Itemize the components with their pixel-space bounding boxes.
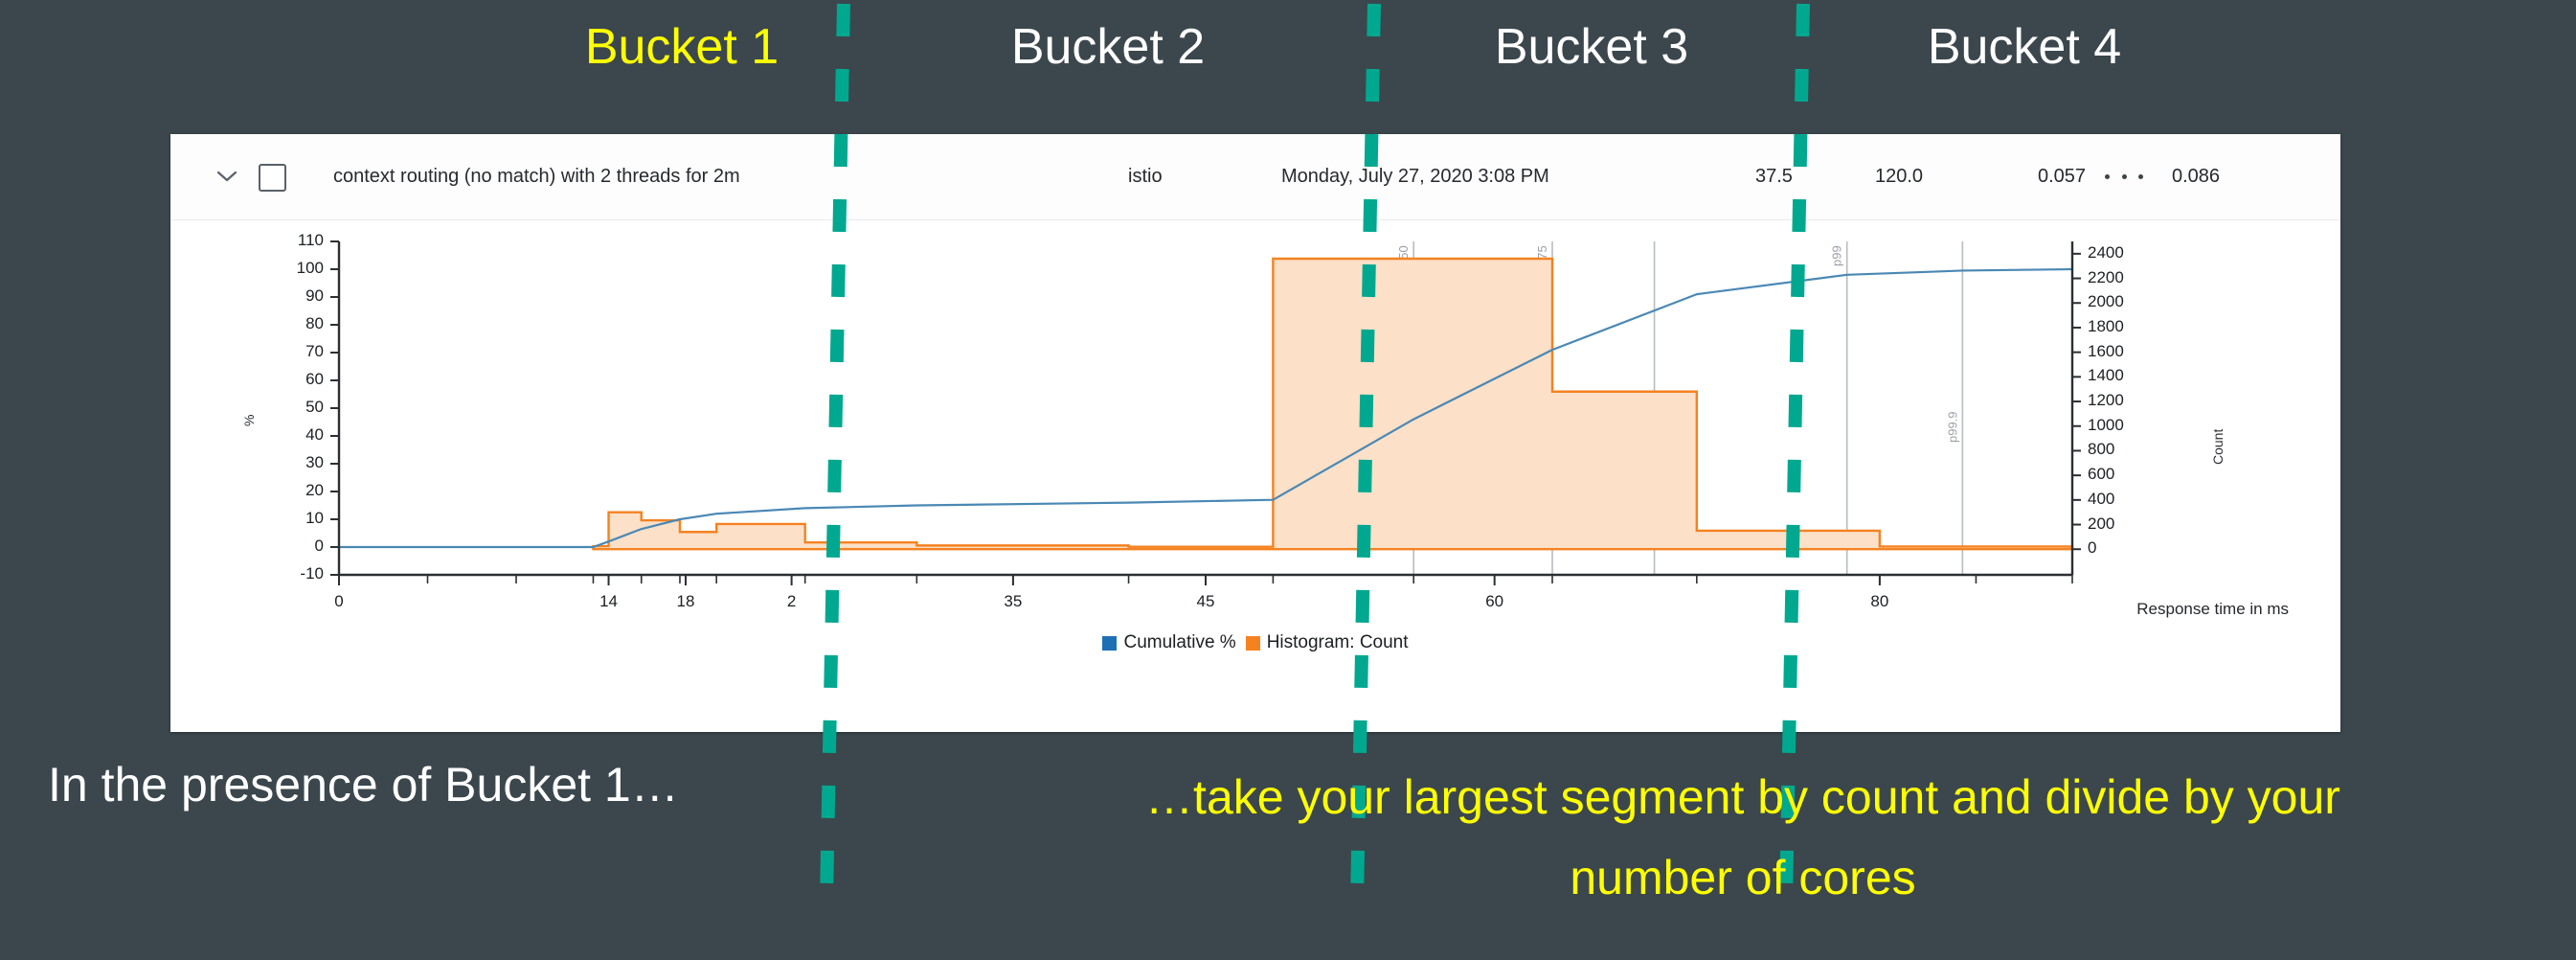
y-tick-label: 30 — [266, 453, 324, 472]
y-tick-label: 60 — [266, 370, 324, 389]
y2-tick-label: 800 — [2088, 440, 2114, 459]
histogram-chart: p50p75p90p99p99.9 Response time in ms Cu… — [170, 220, 2340, 732]
x-tick-label: 2 — [769, 592, 815, 611]
y2-tick-label: 200 — [2088, 514, 2114, 534]
percentile-label-p99.9: p99.9 — [1945, 411, 1959, 443]
caption-right-line-1: …take your largest segment by count and … — [938, 757, 2547, 837]
plot-region: p50p75p90p99p99.9 — [339, 241, 2072, 575]
caption-left: In the presence of Bucket 1… — [48, 757, 679, 812]
y-tick-label: 100 — [266, 259, 324, 278]
bucket-label-2: Bucket 2 — [945, 17, 1271, 77]
bucket-labels-row: Bucket 1Bucket 2Bucket 3Bucket 4 — [0, 0, 2576, 117]
y-tick-label: 70 — [266, 342, 324, 361]
y2-tick-label: 1600 — [2088, 342, 2124, 361]
y-tick-label: 0 — [266, 537, 324, 556]
y-tick-label: 110 — [266, 231, 324, 250]
percentile-label-p99: p99 — [1830, 245, 1844, 266]
x-tick-label: 14 — [586, 592, 632, 611]
row-value-4: 0.086 — [2172, 134, 2220, 219]
result-row-header[interactable]: context routing (no match) with 2 thread… — [170, 134, 2340, 220]
legend-swatch-icon — [1246, 636, 1260, 651]
y-tick-label: 80 — [266, 314, 324, 333]
legend-item-1[interactable]: Cumulative % — [1102, 632, 1235, 653]
y-tick-label: 40 — [266, 425, 324, 445]
y2-tick-label: 400 — [2088, 490, 2114, 509]
y-tick-label: 10 — [266, 509, 324, 528]
row-title: context routing (no match) with 2 thread… — [333, 134, 740, 219]
result-panel: context routing (no match) with 2 thread… — [170, 134, 2340, 732]
y-tick-label: 50 — [266, 398, 324, 417]
x-tick-label: 60 — [1472, 592, 1518, 611]
x-tick-label: 35 — [990, 592, 1036, 611]
caption-right-line-2: number of cores — [938, 837, 2547, 918]
y2-tick-label: 1400 — [2088, 366, 2124, 385]
chevron-down-icon[interactable] — [184, 161, 269, 192]
row-value-3: 0.057 — [2038, 134, 2086, 219]
row-checkbox[interactable] — [259, 164, 286, 192]
bucket-label-4: Bucket 4 — [1862, 17, 2187, 77]
y2-tick-label: 1800 — [2088, 317, 2124, 336]
x-tick-label: 80 — [1857, 592, 1903, 611]
legend-label: Cumulative % — [1123, 632, 1235, 653]
y2-tick-label: 1000 — [2088, 416, 2124, 435]
legend-item-2[interactable]: Histogram: Count — [1246, 632, 1409, 653]
x-tick-label: 0 — [316, 592, 362, 611]
bucket-label-1: Bucket 1 — [519, 17, 845, 77]
legend-swatch-icon — [1102, 636, 1117, 651]
x-tick-label: 18 — [663, 592, 709, 611]
histogram-area — [593, 259, 2072, 549]
y2-tick-label: 1200 — [2088, 391, 2124, 410]
caption-right: …take your largest segment by count and … — [938, 757, 2547, 918]
y2-tick-label: 2000 — [2088, 292, 2124, 311]
y2-tick-label: 2400 — [2088, 243, 2124, 263]
y-tick-label: 20 — [266, 481, 324, 500]
cumulative-line — [339, 269, 2072, 547]
x-axis-title: Response time in ms — [2136, 600, 2289, 619]
legend-label: Histogram: Count — [1267, 632, 1409, 653]
y-axis-title: % — [241, 415, 257, 426]
y2-tick-label: 2200 — [2088, 268, 2124, 287]
y2-tick-label: 600 — [2088, 465, 2114, 484]
bucket-label-3: Bucket 3 — [1429, 17, 1754, 77]
y-tick-label: -10 — [266, 564, 324, 583]
x-tick-label: 45 — [1183, 592, 1229, 611]
y2-tick-label: 0 — [2088, 538, 2096, 558]
row-source: istio — [1128, 134, 1163, 219]
row-value-2: 120.0 — [1875, 134, 1923, 219]
chart-legend: Cumulative %Histogram: Count — [170, 632, 2340, 653]
more-horizontal-icon[interactable] — [2105, 165, 2143, 188]
row-value-1: 37.5 — [1755, 134, 1793, 219]
y2-axis-title: Count — [2210, 429, 2226, 465]
row-timestamp: Monday, July 27, 2020 3:08 PM — [1281, 134, 1549, 219]
y-tick-label: 90 — [266, 286, 324, 306]
